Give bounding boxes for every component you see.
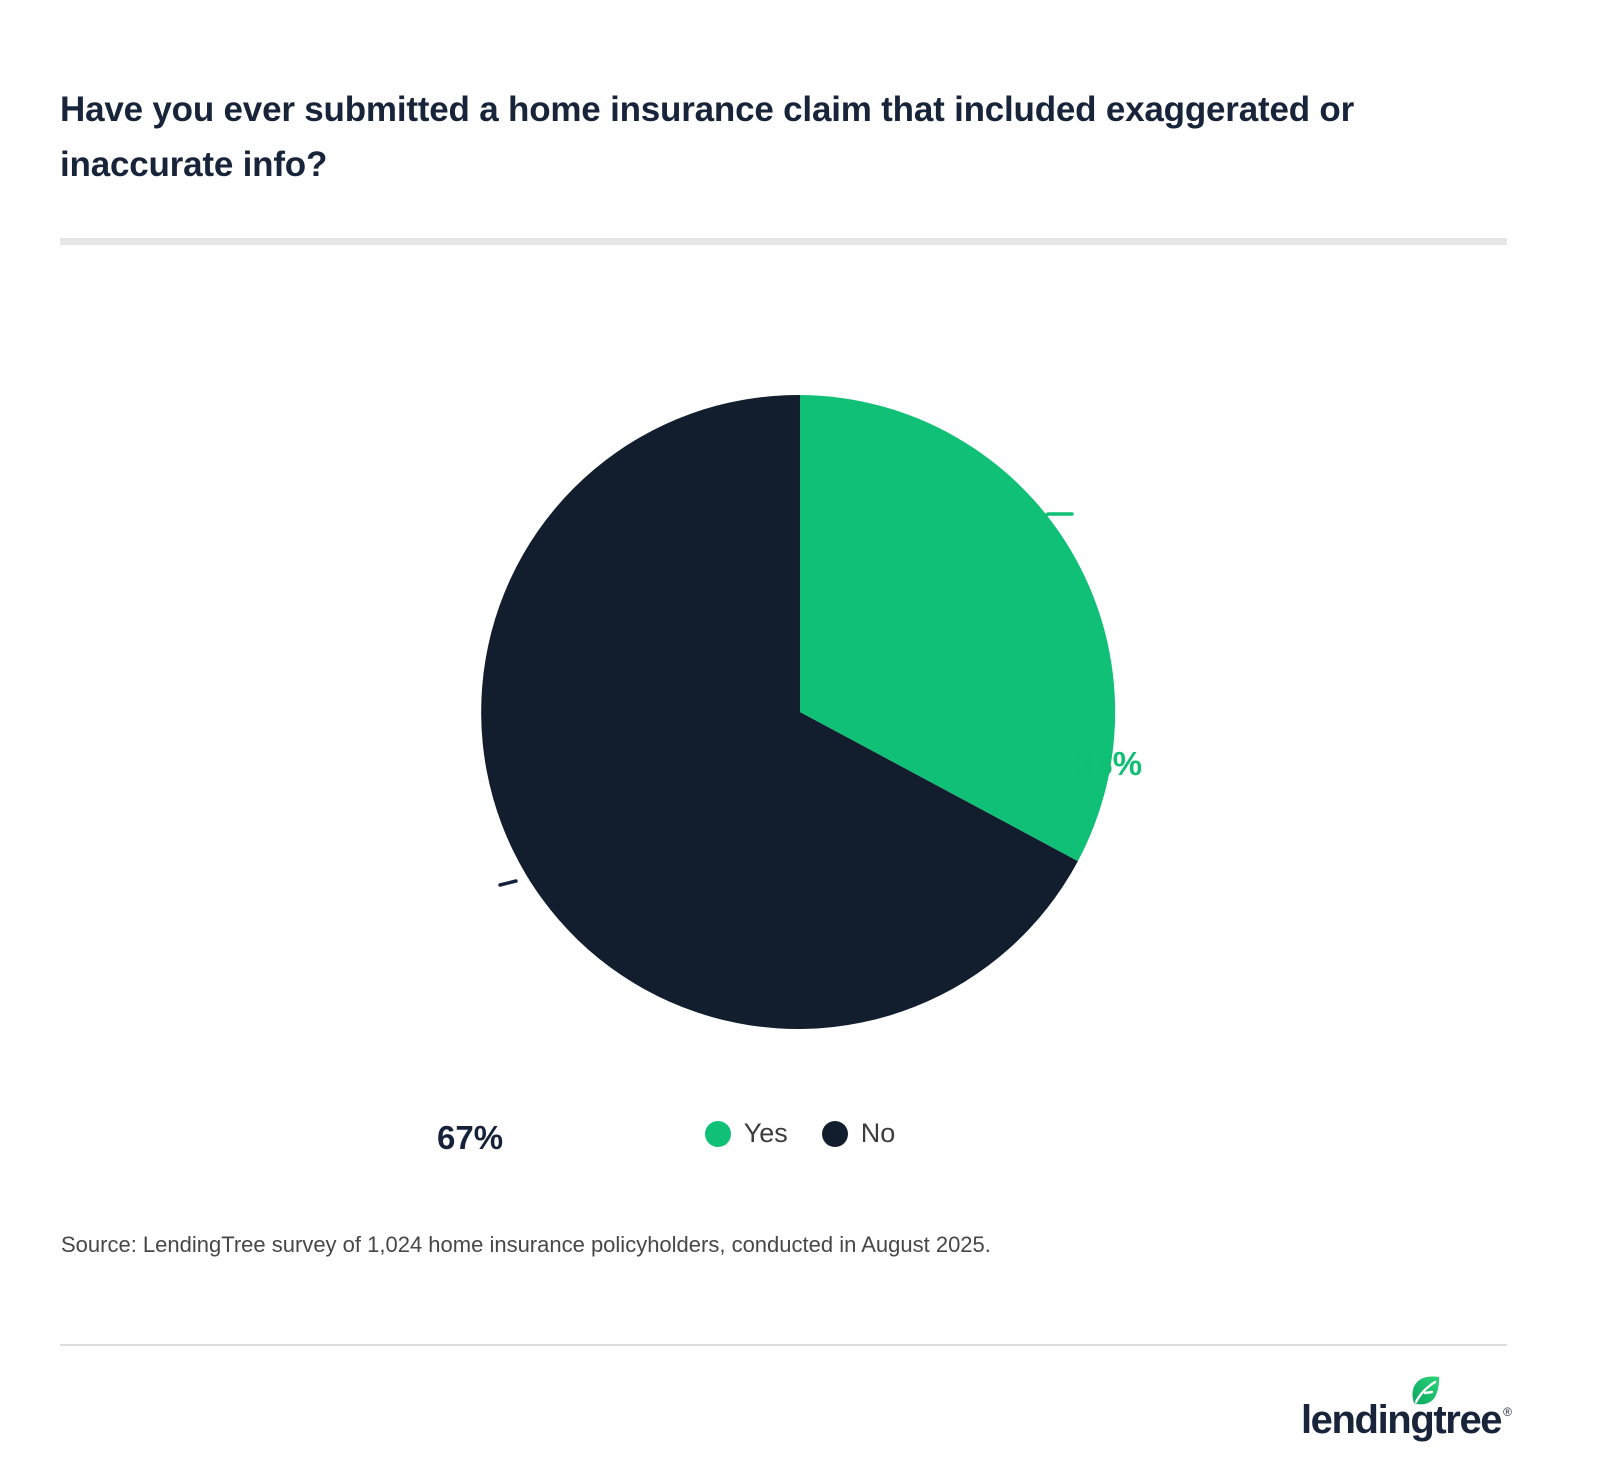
legend-swatch-yes-icon bbox=[705, 1121, 731, 1147]
header-divider bbox=[60, 238, 1507, 245]
slice-label-yes: 33% bbox=[1076, 745, 1142, 783]
pie-chart: 33% 67% bbox=[0, 250, 1600, 1150]
legend-item-yes[interactable]: Yes bbox=[705, 1118, 788, 1149]
chart-page: Have you ever submitted a home insurance… bbox=[0, 0, 1600, 1478]
legend-item-no[interactable]: No bbox=[822, 1118, 896, 1149]
legend-label-yes: Yes bbox=[744, 1118, 788, 1149]
source-note: Source: LendingTree survey of 1,024 home… bbox=[61, 1232, 991, 1258]
chart-legend: Yes No bbox=[0, 1118, 1600, 1149]
pie-chart-svg bbox=[0, 250, 1600, 1150]
lendingtree-logo[interactable]: lendingtree ® bbox=[1301, 1400, 1512, 1440]
footer-divider bbox=[60, 1344, 1507, 1346]
page-title: Have you ever submitted a home insurance… bbox=[60, 82, 1480, 193]
logo-trademark: ® bbox=[1503, 1406, 1512, 1418]
leaf-icon bbox=[1408, 1374, 1442, 1408]
leader-line-no bbox=[500, 881, 516, 885]
legend-label-no: No bbox=[861, 1118, 896, 1149]
logo-wordmark: lendingtree bbox=[1301, 1400, 1501, 1440]
legend-swatch-no-icon bbox=[822, 1121, 848, 1147]
